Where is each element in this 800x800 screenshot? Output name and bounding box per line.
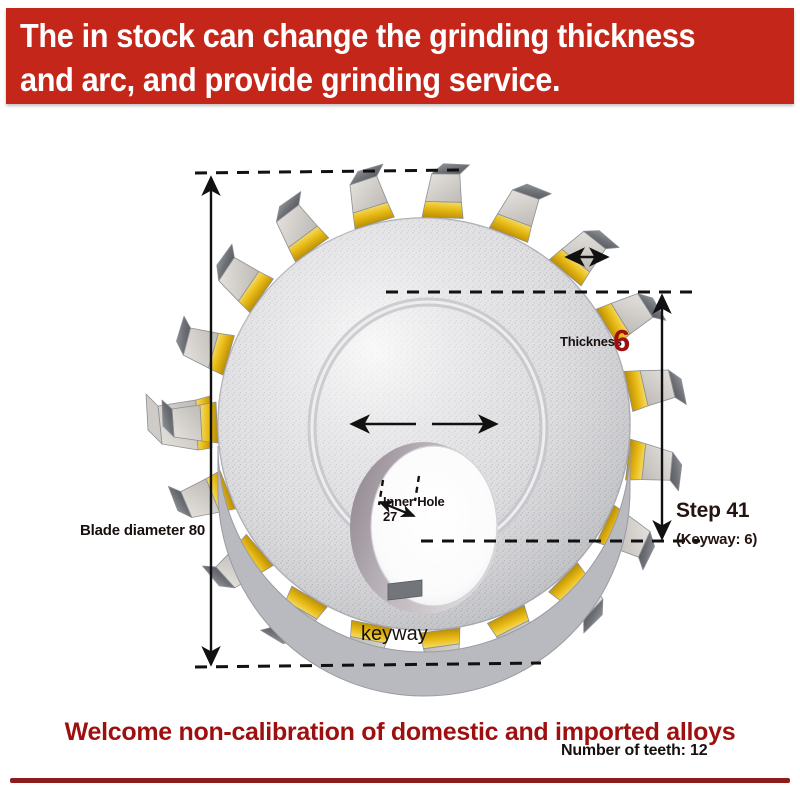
diagram-stage: Blade diameter 80 Thickness 6 Step 41 (K… [0,104,800,710]
label-inner-hole-title: Inner Hole [383,494,445,509]
label-keyway: keyway [361,623,428,646]
banner-line-1: The in stock can change the grinding thi… [20,14,727,58]
label-thickness-value: 6 [613,323,630,359]
banner-line-2: and arc, and provide grinding service. [20,58,727,102]
header-banner: The in stock can change the grinding thi… [6,8,794,104]
saw-blade-illustration [0,104,800,710]
blade-tooth [624,362,686,414]
label-inner-hole-value: 27 [383,509,445,524]
tooth-top-face [425,171,463,204]
blade-tooth [623,439,685,491]
label-step: Step 41 [676,499,749,523]
label-inner-hole: Inner Hole 27 [383,494,445,524]
label-keyway-note: (Keyway: 6) [676,531,757,548]
tooth-carbide-braze [200,402,218,443]
inner-hole [350,442,498,614]
label-blade-diameter: Blade diameter 80 [80,522,205,539]
tooth-top-face [172,405,202,441]
footer-caption: Welcome non-calibration of domestic and … [0,718,800,747]
blade-tooth [341,164,396,229]
blade-graphic [146,161,686,696]
footer-divider [10,778,790,783]
extension-line-top [195,170,462,173]
product-dimension-infographic: The in stock can change the grinding thi… [0,0,800,800]
